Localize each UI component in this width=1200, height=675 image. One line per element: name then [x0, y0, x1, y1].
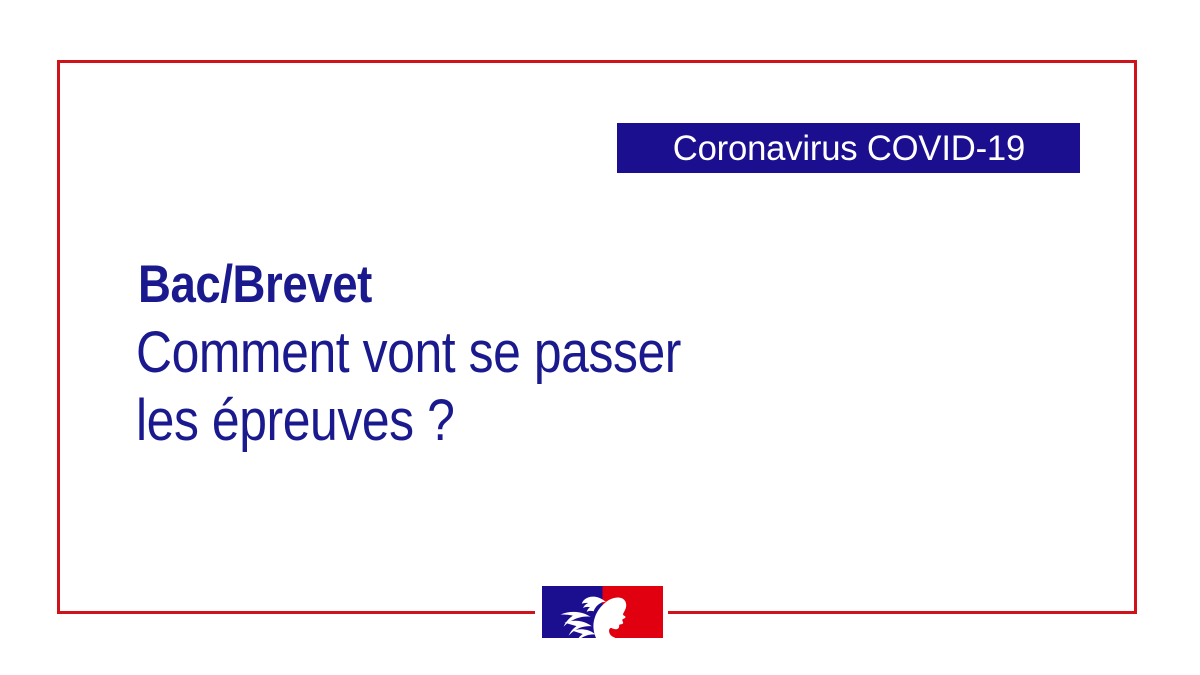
frame-border-top [57, 60, 1137, 63]
headline-kicker: Bac/Brevet [138, 258, 841, 311]
covid-badge: Coronavirus COVID-19 [617, 123, 1080, 173]
covid-badge-label: Coronavirus COVID-19 [672, 131, 1024, 166]
frame-border-left [57, 60, 60, 614]
frame-border-bottom-right [668, 611, 1137, 614]
headline-block: Bac/Brevet Comment vont se passer les ép… [136, 258, 956, 456]
frame-border-right [1134, 60, 1137, 614]
headline-line-3: les épreuves ? [136, 387, 841, 455]
headline-line-2: Comment vont se passer [136, 319, 841, 387]
marianne-logo [542, 586, 663, 638]
poster-canvas: Coronavirus COVID-19 Bac/Brevet Comment … [0, 0, 1200, 675]
frame-border-bottom-left [57, 611, 535, 614]
